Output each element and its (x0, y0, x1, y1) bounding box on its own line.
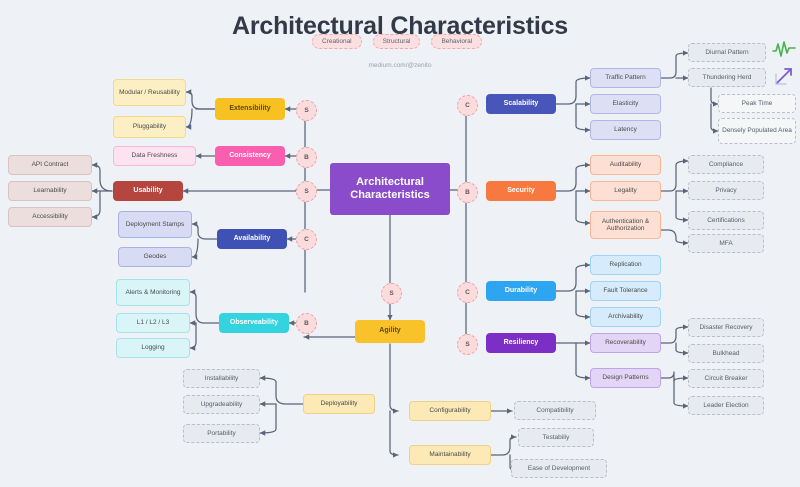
legend-chip-behavioral[interactable]: Behavioral (431, 34, 482, 49)
badge-structural-resiliency[interactable]: S (457, 334, 478, 355)
badge-behavioral-consistency[interactable]: B (296, 147, 317, 168)
mindmap-canvas: Architectural Characteristics Creational… (0, 0, 800, 487)
node-geodes[interactable]: Geodes (118, 247, 192, 267)
node-recoverability[interactable]: Recoverability (590, 333, 661, 353)
badge-creational-scalability[interactable]: C (457, 95, 478, 116)
node-logging[interactable]: Logging (116, 338, 190, 358)
node-modular-reusability[interactable]: Modular / Reusability (113, 79, 186, 106)
node-archivability[interactable]: Archivability (590, 307, 661, 327)
node-usability[interactable]: Usability (113, 181, 183, 201)
node-thundering-herd[interactable]: Thundering Herd (688, 68, 766, 87)
node-extensibility[interactable]: Extensibility (215, 98, 285, 120)
node-testability[interactable]: Testabiliy (518, 428, 594, 447)
node-auditability[interactable]: Auditability (590, 155, 661, 175)
page-subtitle: medium.com/@zenito (0, 62, 800, 69)
node-maintainability[interactable]: Maintainability (409, 445, 491, 465)
node-scalability[interactable]: Scalability (486, 94, 556, 114)
node-privacy[interactable]: Privacy (688, 181, 764, 200)
node-mfa[interactable]: MFA (688, 234, 764, 253)
node-pluggability[interactable]: Pluggability (113, 116, 186, 138)
node-data-freshness[interactable]: Data Freshness (113, 146, 196, 166)
node-portability[interactable]: Portability (183, 424, 260, 443)
node-ease-of-development[interactable]: Ease of Development (511, 459, 607, 478)
legend: Creational Structural Behavioral (312, 34, 482, 49)
badge-creational-availability[interactable]: C (296, 229, 317, 250)
node-leader-election[interactable]: Leader Election (688, 396, 764, 415)
node-authentication-authorization[interactable]: Authentication & Authorization (590, 211, 661, 239)
node-peak-time[interactable]: Peak Time (718, 94, 796, 113)
connector-lines (0, 0, 800, 487)
pulse-wave-icon (772, 40, 796, 63)
node-agility[interactable]: Agility (355, 320, 425, 343)
legend-chip-creational[interactable]: Creational (312, 34, 362, 49)
node-consistency[interactable]: Consistency (215, 146, 285, 166)
node-circuit-breaker[interactable]: Circuit Breaker (688, 369, 764, 388)
badge-behavioral-security[interactable]: B (457, 182, 478, 203)
badge-behavioral-observeability[interactable]: B (296, 313, 317, 334)
badge-creational-durability[interactable]: C (457, 282, 478, 303)
node-learnability[interactable]: Learnability (8, 181, 92, 201)
node-observeability[interactable]: Observeability (219, 313, 289, 333)
node-traffic-pattern[interactable]: Traffic Pattern (590, 68, 661, 88)
node-availability[interactable]: Availability (217, 229, 287, 249)
node-architectural-characteristics[interactable]: Architectural Characteristics (330, 163, 450, 215)
node-disaster-recovery[interactable]: Disaster Recovery (688, 318, 764, 337)
trending-up-arrow-icon (774, 66, 794, 91)
node-upgradeability[interactable]: Upgradeability (183, 395, 260, 414)
node-fault-tolerance[interactable]: Fault Tolerance (590, 281, 661, 301)
node-latency[interactable]: Latency (590, 120, 661, 140)
node-installability[interactable]: Installability (183, 369, 260, 388)
node-design-patterns[interactable]: Design Patterns (590, 368, 661, 388)
node-deployability[interactable]: Deployability (303, 394, 375, 414)
node-densely-populated-area[interactable]: Densely Populated Area (718, 118, 796, 144)
badge-structural-agility[interactable]: S (381, 283, 402, 304)
node-certifications[interactable]: Certifications (688, 211, 764, 230)
node-alerts-monitoring[interactable]: Alerts & Monitoring (116, 279, 190, 306)
node-compliance[interactable]: Compliance (688, 155, 764, 174)
node-durability[interactable]: Durability (486, 281, 556, 301)
node-resiliency[interactable]: Resiliency (486, 333, 556, 353)
node-replication[interactable]: Replication (590, 255, 661, 275)
node-security[interactable]: Security (486, 181, 556, 201)
node-deployment-stamps[interactable]: Deployment Stamps (118, 211, 192, 238)
node-bulkhead[interactable]: Bulkhead (688, 344, 764, 363)
legend-chip-structural[interactable]: Structural (373, 34, 421, 49)
node-l1-l2-l3[interactable]: L1 / L2 / L3 (116, 313, 190, 333)
badge-structural-extensibility[interactable]: S (296, 100, 317, 121)
node-accessibility[interactable]: Accessibility (8, 207, 92, 227)
node-api-contract[interactable]: API Contract (8, 155, 92, 175)
node-configurability[interactable]: Configurability (409, 401, 491, 421)
node-elasticity[interactable]: Elasticity (590, 94, 661, 114)
node-compatibility[interactable]: Compatibility (514, 401, 596, 420)
node-diurnal-pattern[interactable]: Diurnal Pattern (688, 43, 766, 62)
badge-structural-usability[interactable]: S (296, 181, 317, 202)
node-legality[interactable]: Legality (590, 181, 661, 201)
